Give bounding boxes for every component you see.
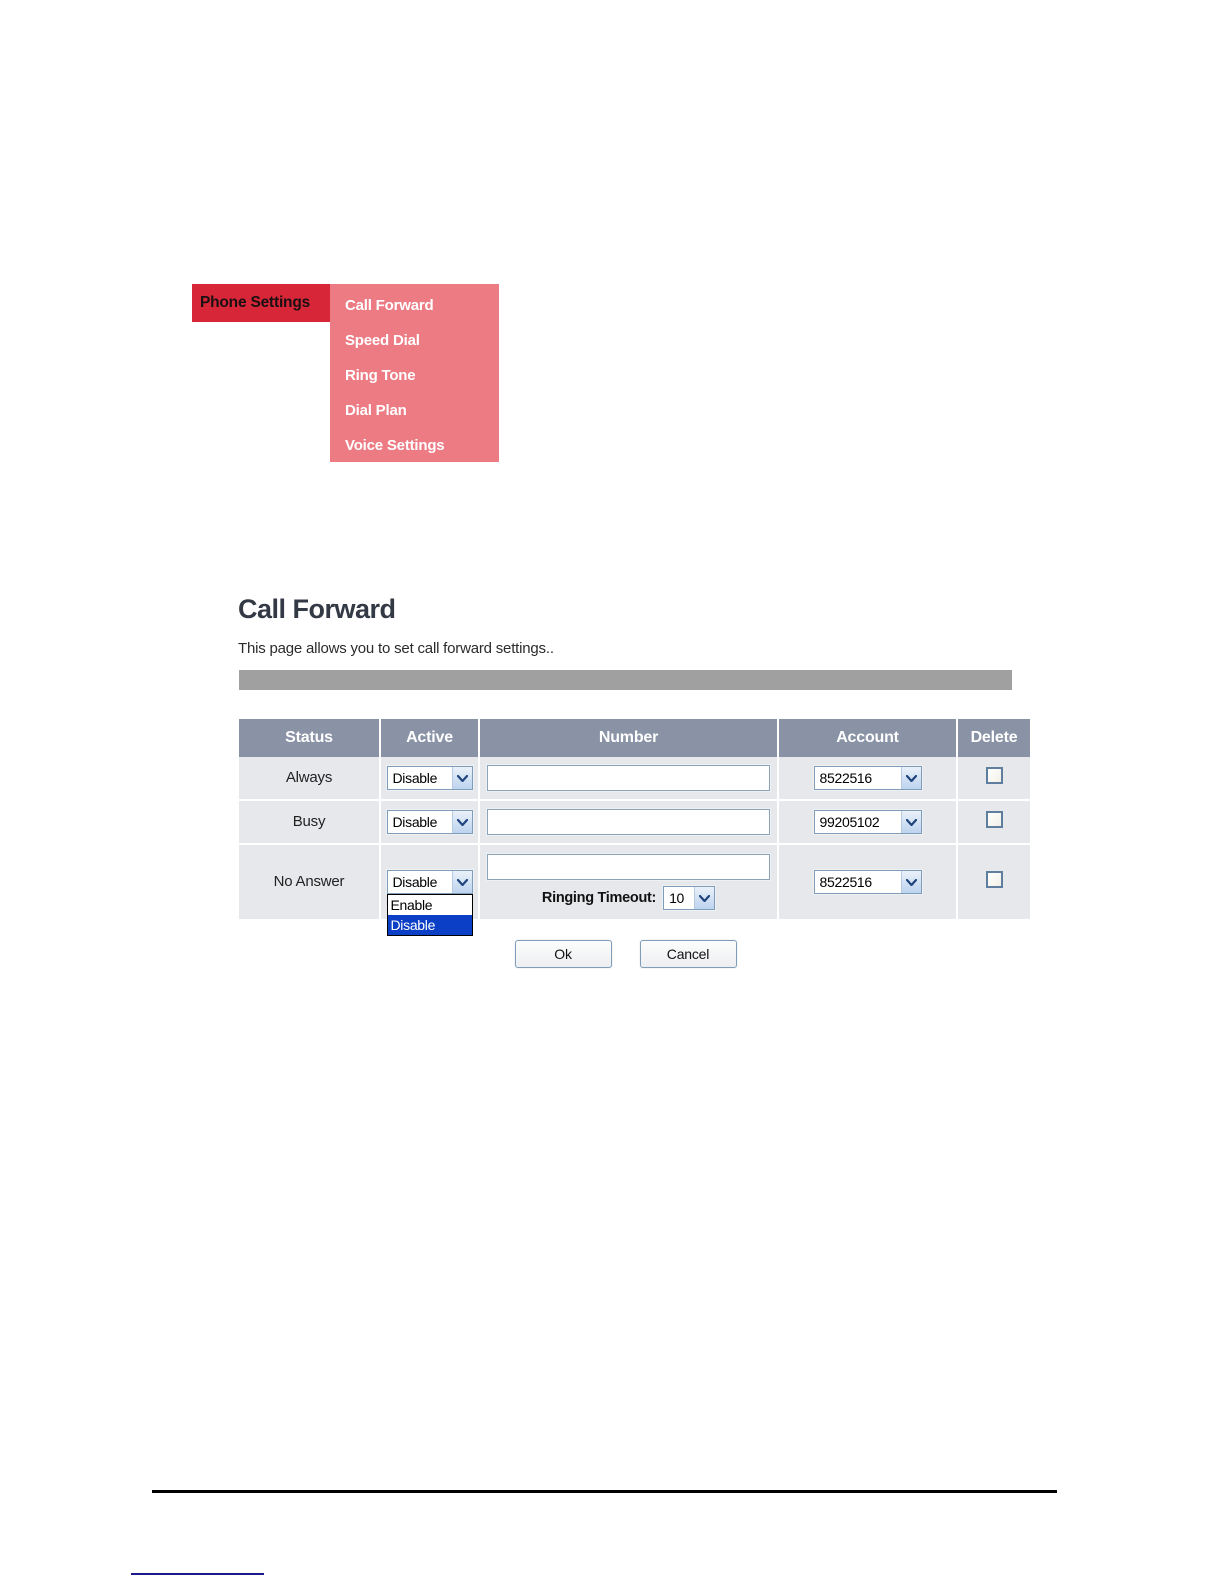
- nav-item-call-forward[interactable]: Call Forward: [345, 293, 499, 328]
- active-select-no-answer-value: Disable: [388, 871, 452, 893]
- active-select-always[interactable]: Disable: [387, 766, 473, 790]
- delete-checkbox-busy[interactable]: [986, 811, 1003, 828]
- nav-item-ring-tone[interactable]: Ring Tone: [345, 363, 499, 398]
- account-select-always-value: 8522516: [815, 767, 901, 789]
- call-forward-table: Status Active Number Account Delete Alwa…: [239, 719, 1030, 919]
- ringing-timeout-select[interactable]: 10: [663, 886, 715, 910]
- active-select-no-answer[interactable]: Disable: [387, 870, 473, 894]
- nav-item-dial-plan-label: Dial Plan: [345, 402, 407, 419]
- cancel-button[interactable]: Cancel: [640, 940, 737, 968]
- footer-horizontal-rule: [152, 1490, 1057, 1493]
- table-row: Always Disable 8522516: [239, 757, 1030, 800]
- active-select-busy[interactable]: Disable: [387, 810, 473, 834]
- form-action-buttons: Ok Cancel: [239, 940, 1012, 968]
- cell-number-busy: [479, 800, 778, 844]
- nav-item-dial-plan[interactable]: Dial Plan: [345, 398, 499, 433]
- nav-item-call-forward-label: Call Forward: [345, 297, 433, 314]
- option-disable[interactable]: Disable: [388, 915, 472, 935]
- delete-checkbox-always[interactable]: [986, 767, 1003, 784]
- chevron-down-icon: [452, 767, 472, 789]
- account-select-no-answer[interactable]: 8522516: [814, 870, 922, 894]
- column-header-delete: Delete: [957, 719, 1030, 757]
- nav-primary-phone-settings[interactable]: Phone Settings: [192, 284, 332, 322]
- cell-delete-always: [957, 757, 1030, 800]
- account-select-always[interactable]: 8522516: [814, 766, 922, 790]
- column-header-account: Account: [778, 719, 957, 757]
- chevron-down-icon: [901, 871, 921, 893]
- nav-item-speed-dial[interactable]: Speed Dial: [345, 328, 499, 363]
- cell-status-no-answer: No Answer: [239, 844, 380, 919]
- column-header-number: Number: [479, 719, 778, 757]
- account-select-no-answer-value: 8522516: [815, 871, 901, 893]
- status-label-always: Always: [286, 769, 332, 786]
- ringing-timeout-value: 10: [664, 887, 694, 909]
- table-header-row: Status Active Number Account Delete: [239, 719, 1030, 757]
- cell-status-always: Always: [239, 757, 380, 800]
- account-select-busy-value: 99205102: [815, 811, 901, 833]
- cell-active-no-answer: Disable Enable Disable: [380, 844, 479, 919]
- column-header-status: Status: [239, 719, 380, 757]
- footer-bottom-line: [131, 1573, 264, 1575]
- nav-submenu: Call Forward Speed Dial Ring Tone Dial P…: [330, 284, 499, 462]
- active-select-no-answer-options: Enable Disable: [387, 894, 473, 936]
- active-select-no-answer-wrapper: Disable Enable Disable: [387, 870, 473, 894]
- table-row: Busy Disable 99205102: [239, 800, 1030, 844]
- cell-active-busy: Disable: [380, 800, 479, 844]
- cell-number-no-answer: Ringing Timeout: 10: [479, 844, 778, 919]
- cell-status-busy: Busy: [239, 800, 380, 844]
- chevron-down-icon: [901, 767, 921, 789]
- cell-active-always: Disable: [380, 757, 479, 800]
- ringing-timeout-group: Ringing Timeout: 10: [542, 886, 715, 910]
- nav-item-voice-settings[interactable]: Voice Settings: [345, 433, 499, 468]
- chevron-down-icon: [452, 811, 472, 833]
- chevron-down-icon: [901, 811, 921, 833]
- number-input-no-answer[interactable]: [487, 854, 770, 880]
- nav-item-ring-tone-label: Ring Tone: [345, 367, 415, 384]
- ringing-timeout-label: Ringing Timeout:: [542, 890, 656, 906]
- number-input-busy[interactable]: [487, 809, 770, 835]
- delete-checkbox-no-answer[interactable]: [986, 871, 1003, 888]
- cell-account-always: 8522516: [778, 757, 957, 800]
- number-input-always[interactable]: [487, 765, 770, 791]
- cell-account-no-answer: 8522516: [778, 844, 957, 919]
- page-title: Call Forward: [238, 594, 396, 625]
- chevron-down-icon: [452, 871, 472, 893]
- nav-item-speed-dial-label: Speed Dial: [345, 332, 420, 349]
- active-select-busy-value: Disable: [388, 811, 452, 833]
- nav-primary-label: Phone Settings: [200, 294, 310, 312]
- table-row: No Answer Disable Enable Disable: [239, 844, 1030, 919]
- number-and-timeout-group: Ringing Timeout: 10: [481, 854, 776, 910]
- cell-number-always: [479, 757, 778, 800]
- column-header-active: Active: [380, 719, 479, 757]
- status-label-no-answer: No Answer: [274, 873, 345, 890]
- status-label-busy: Busy: [293, 813, 326, 830]
- page-description: This page allows you to set call forward…: [238, 640, 554, 657]
- nav-item-voice-settings-label: Voice Settings: [345, 437, 444, 454]
- section-divider-bar: [239, 670, 1012, 690]
- cell-delete-busy: [957, 800, 1030, 844]
- chevron-down-icon: [694, 887, 714, 909]
- phone-settings-nav-menu: Phone Settings Call Forward Speed Dial R…: [192, 284, 499, 462]
- option-enable[interactable]: Enable: [388, 895, 472, 915]
- cell-delete-no-answer: [957, 844, 1030, 919]
- ok-button[interactable]: Ok: [515, 940, 612, 968]
- cell-account-busy: 99205102: [778, 800, 957, 844]
- account-select-busy[interactable]: 99205102: [814, 810, 922, 834]
- active-select-always-value: Disable: [388, 767, 452, 789]
